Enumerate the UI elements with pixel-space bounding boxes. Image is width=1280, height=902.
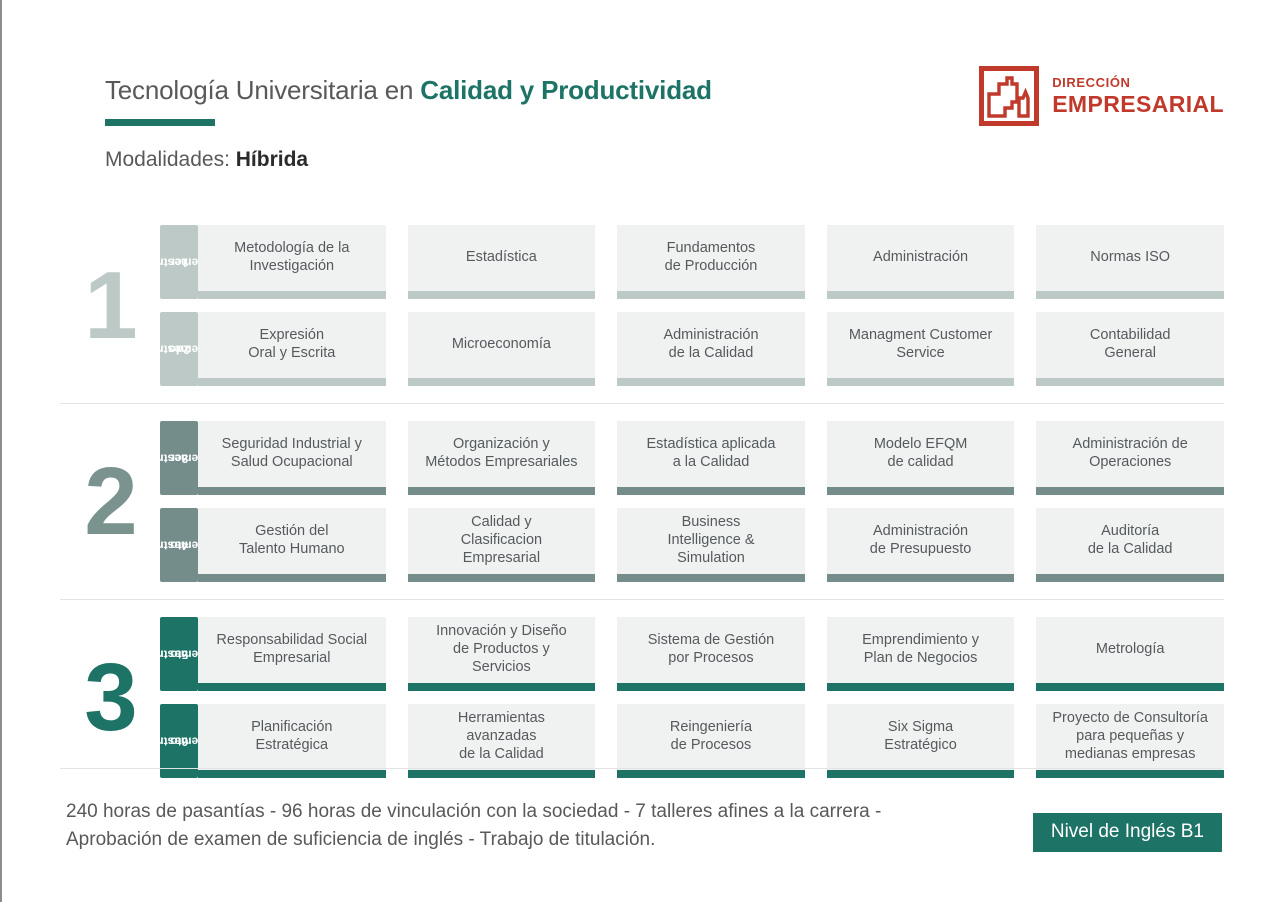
course-title: Sistema de Gestiónpor Procesos xyxy=(617,617,805,683)
course-title: Calidad yClasificacionEmpresarial xyxy=(408,508,596,574)
semester-tab-3[interactable]: 3erSemestre xyxy=(160,421,198,495)
course-card-bar xyxy=(198,770,386,778)
course-card[interactable]: Estadística aplicadaa la Calidad xyxy=(617,421,805,495)
logo-line-1: DIRECCIÓN xyxy=(1052,76,1224,89)
semester-tab-2[interactable]: 2doSemestre xyxy=(160,312,198,386)
course-card-bar xyxy=(198,574,386,582)
course-card-bar xyxy=(408,291,596,299)
semester-tab-5[interactable]: 5toSemestre xyxy=(160,617,198,691)
year-row: 2 3erSemestre 4toSemestre Seguridad Indu… xyxy=(2,404,1280,599)
semester-tab-column: 5toSemestre 6toSemestre xyxy=(160,610,198,785)
semester-tab-column: 3erSemestre 4toSemestre xyxy=(160,414,198,589)
course-card-bar xyxy=(1036,291,1224,299)
course-card[interactable]: Normas ISO xyxy=(1036,225,1224,299)
course-card[interactable]: Microeconomía xyxy=(408,312,596,386)
logo-wordmark: DIRECCIÓN EMPRESARIAL xyxy=(1052,76,1224,116)
course-card-bar xyxy=(408,378,596,386)
course-card-bar xyxy=(1036,378,1224,386)
course-card-bar xyxy=(617,770,805,778)
semester-course-row: Responsabilidad SocialEmpresarial Innova… xyxy=(198,617,1224,691)
course-card-bar xyxy=(617,291,805,299)
course-card[interactable]: Organización yMétodos Empresariales xyxy=(408,421,596,495)
semester-tab-column: 1erSemestre 2doSemestre xyxy=(160,218,198,393)
graduation-requirements: 240 horas de pasantías - 96 horas de vin… xyxy=(66,798,946,853)
course-title: Reingenieríade Procesos xyxy=(617,704,805,770)
brand-logo: DIRECCIÓN EMPRESARIAL xyxy=(979,66,1224,126)
course-card[interactable]: Six SigmaEstratégico xyxy=(827,704,1015,778)
buildings-square-icon xyxy=(979,66,1039,126)
course-card[interactable]: ExpresiónOral y Escrita xyxy=(198,312,386,386)
course-card-bar xyxy=(408,770,596,778)
course-title: BusinessIntelligence &Simulation xyxy=(617,508,805,574)
year-group-2: 2 3erSemestre 4toSemestre Seguridad Indu… xyxy=(2,404,1280,600)
course-card[interactable]: Seguridad Industrial ySalud Ocupacional xyxy=(198,421,386,495)
course-card[interactable]: Responsabilidad SocialEmpresarial xyxy=(198,617,386,691)
course-card-bar xyxy=(408,574,596,582)
courses-area: Seguridad Industrial ySalud Ocupacional … xyxy=(198,414,1224,589)
course-card-bar xyxy=(827,291,1015,299)
semester-course-row: Gestión delTalento Humano Calidad yClasi… xyxy=(198,508,1224,582)
english-level-badge: Nivel de Inglés B1 xyxy=(1033,813,1222,852)
page-header: Tecnología Universitaria en Calidad y Pr… xyxy=(2,0,1280,200)
course-card-bar xyxy=(827,574,1015,582)
course-card-bar xyxy=(617,487,805,495)
course-card[interactable]: Auditoríade la Calidad xyxy=(1036,508,1224,582)
course-card[interactable]: Administración xyxy=(827,225,1015,299)
year-number-1: 1 xyxy=(60,218,160,393)
course-title: Auditoríade la Calidad xyxy=(1036,508,1224,574)
semester-tab-4[interactable]: 4toSemestre xyxy=(160,508,198,582)
course-card-bar xyxy=(827,378,1015,386)
page-title: Tecnología Universitaria en Calidad y Pr… xyxy=(105,76,712,126)
course-title: Proyecto de Consultoríapara pequeñas yme… xyxy=(1036,704,1224,770)
course-title: Organización yMétodos Empresariales xyxy=(408,421,596,487)
course-title: Microeconomía xyxy=(408,312,596,378)
modality-label: Modalidades: xyxy=(105,148,230,171)
semester-tab-1[interactable]: 1erSemestre xyxy=(160,225,198,299)
course-card-bar xyxy=(198,291,386,299)
course-card[interactable]: Administración deOperaciones xyxy=(1036,421,1224,495)
course-card[interactable]: BusinessIntelligence &Simulation xyxy=(617,508,805,582)
year-number-2: 2 xyxy=(60,414,160,589)
course-card[interactable]: Reingenieríade Procesos xyxy=(617,704,805,778)
course-card[interactable]: Herramientasavanzadasde la Calidad xyxy=(408,704,596,778)
course-card[interactable]: Metrología xyxy=(1036,617,1224,691)
course-card-bar xyxy=(198,487,386,495)
course-card[interactable]: Modelo EFQMde calidad xyxy=(827,421,1015,495)
year-group-3: 3 5toSemestre 6toSemestre Responsabilida… xyxy=(2,600,1280,795)
course-title: Gestión delTalento Humano xyxy=(198,508,386,574)
course-title: Innovación y Diseñode Productos yServici… xyxy=(408,617,596,683)
year-row: 3 5toSemestre 6toSemestre Responsabilida… xyxy=(2,600,1280,795)
course-card[interactable]: ContabilidadGeneral xyxy=(1036,312,1224,386)
courses-area: Responsabilidad SocialEmpresarial Innova… xyxy=(198,610,1224,785)
curriculum-poster: Tecnología Universitaria en Calidad y Pr… xyxy=(0,0,1280,902)
year-number-3: 3 xyxy=(60,610,160,785)
footer-divider xyxy=(60,768,1222,769)
course-title: Normas ISO xyxy=(1036,225,1224,291)
course-card-bar xyxy=(827,683,1015,691)
course-card-bar xyxy=(198,683,386,691)
course-title: ContabilidadGeneral xyxy=(1036,312,1224,378)
course-title: PlanificaciónEstratégica xyxy=(198,704,386,770)
course-card[interactable]: Metodología de laInvestigación xyxy=(198,225,386,299)
course-card[interactable]: Sistema de Gestiónpor Procesos xyxy=(617,617,805,691)
course-title: Modelo EFQMde calidad xyxy=(827,421,1015,487)
title-highlight: Calidad y Productividad xyxy=(420,75,712,105)
course-title: Administraciónde la Calidad xyxy=(617,312,805,378)
course-card[interactable]: Proyecto de Consultoríapara pequeñas yme… xyxy=(1036,704,1224,778)
course-card-bar xyxy=(1036,683,1224,691)
semester-tab-6[interactable]: 6toSemestre xyxy=(160,704,198,778)
logo-line-2: EMPRESARIAL xyxy=(1052,93,1224,116)
course-card-bar xyxy=(827,770,1015,778)
course-card-bar xyxy=(408,683,596,691)
course-card[interactable]: Managment CustomerService xyxy=(827,312,1015,386)
semester-course-row: Seguridad Industrial ySalud Ocupacional … xyxy=(198,421,1224,495)
course-title: Fundamentosde Producción xyxy=(617,225,805,291)
course-card[interactable]: Innovación y Diseñode Productos yServici… xyxy=(408,617,596,691)
course-card-bar xyxy=(617,574,805,582)
course-title: Seguridad Industrial ySalud Ocupacional xyxy=(198,421,386,487)
course-title: Metrología xyxy=(1036,617,1224,683)
course-card-bar xyxy=(827,487,1015,495)
title-underline-rule xyxy=(105,119,215,126)
course-title: Metodología de laInvestigación xyxy=(198,225,386,291)
course-card-bar xyxy=(1036,574,1224,582)
course-card-bar xyxy=(617,683,805,691)
course-card[interactable]: Emprendimiento yPlan de Negocios xyxy=(827,617,1015,691)
modality-value: Híbrida xyxy=(236,148,308,171)
course-title: ExpresiónOral y Escrita xyxy=(198,312,386,378)
modality-line: Modalidades: Híbrida xyxy=(105,148,308,172)
curriculum-grid: 1 1erSemestre 2doSemestre Metodología de… xyxy=(2,208,1280,795)
course-card[interactable]: PlanificaciónEstratégica xyxy=(198,704,386,778)
course-card[interactable]: Administraciónde la Calidad xyxy=(617,312,805,386)
semester-course-row: ExpresiónOral y Escrita Microeconomía Ad… xyxy=(198,312,1224,386)
courses-area: Metodología de laInvestigación Estadísti… xyxy=(198,218,1224,393)
year-row: 1 1erSemestre 2doSemestre Metodología de… xyxy=(2,208,1280,403)
course-title: Estadística aplicadaa la Calidad xyxy=(617,421,805,487)
course-title: Administraciónde Presupuesto xyxy=(827,508,1015,574)
course-card-bar xyxy=(1036,770,1224,778)
course-title: Emprendimiento yPlan de Negocios xyxy=(827,617,1015,683)
course-card-bar xyxy=(1036,487,1224,495)
course-card[interactable]: Estadística xyxy=(408,225,596,299)
course-title: Responsabilidad SocialEmpresarial xyxy=(198,617,386,683)
course-card-bar xyxy=(617,378,805,386)
course-title: Six SigmaEstratégico xyxy=(827,704,1015,770)
course-card-bar xyxy=(198,378,386,386)
year-group-1: 1 1erSemestre 2doSemestre Metodología de… xyxy=(2,208,1280,404)
course-title: Herramientasavanzadasde la Calidad xyxy=(408,704,596,770)
course-title: Administración deOperaciones xyxy=(1036,421,1224,487)
semester-course-row: PlanificaciónEstratégica Herramientasava… xyxy=(198,704,1224,778)
course-title: Estadística xyxy=(408,225,596,291)
course-card[interactable]: Gestión delTalento Humano xyxy=(198,508,386,582)
title-prefix: Tecnología Universitaria en xyxy=(105,75,413,105)
course-card[interactable]: Fundamentosde Producción xyxy=(617,225,805,299)
course-card[interactable]: Calidad yClasificacionEmpresarial xyxy=(408,508,596,582)
course-card-bar xyxy=(408,487,596,495)
course-title: Managment CustomerService xyxy=(827,312,1015,378)
semester-course-row: Metodología de laInvestigación Estadísti… xyxy=(198,225,1224,299)
course-title: Administración xyxy=(827,225,1015,291)
course-card[interactable]: Administraciónde Presupuesto xyxy=(827,508,1015,582)
